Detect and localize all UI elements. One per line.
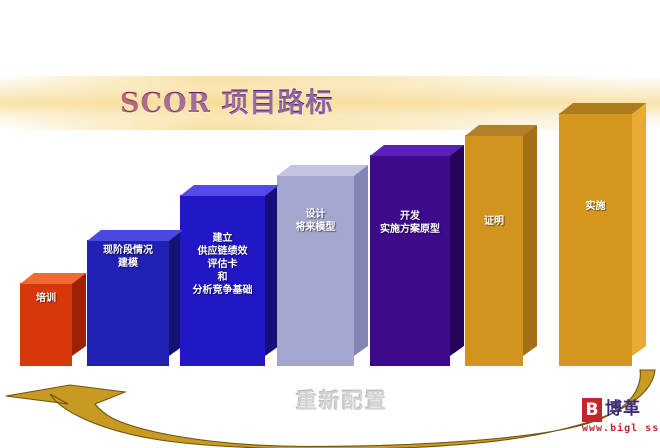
logo-mark-icon: B <box>582 398 602 422</box>
chart-bar-1[interactable]: 培训 <box>20 273 72 366</box>
chart-bar-top-face <box>277 165 368 176</box>
chart-bar-side-face <box>354 165 368 356</box>
chart-bar-2[interactable]: 现阶段情况建模 <box>87 230 169 366</box>
slide-canvas: SCOR 项目路标 培训现阶段情况建模建立供应链绩效评估卡和分析竞争基础设计将来… <box>0 0 660 448</box>
chart-bar-top-face <box>180 185 279 196</box>
reconfigure-label: 重新配置 <box>296 386 426 416</box>
chart-bar-6[interactable]: 证明 <box>465 125 523 366</box>
chart-bar-3[interactable]: 建立供应链绩效评估卡和分析竞争基础 <box>180 185 265 366</box>
chart-bar-side-face <box>632 103 646 356</box>
chart-bar-front-face <box>559 113 632 366</box>
logo-company-name: 博革 <box>605 397 641 421</box>
chart-bar-top-face <box>559 103 646 114</box>
chart-bar-side-face <box>523 125 537 356</box>
chart-bar-4[interactable]: 设计将来模型 <box>277 165 354 366</box>
chart-bar-top-face <box>370 145 464 156</box>
chart-bar-front-face <box>20 283 72 366</box>
logo-website-url: www.bigl ss.com <box>582 423 660 434</box>
page-title: SCOR 项目路标 <box>120 84 420 124</box>
chart-bar-5[interactable]: 开发实施方案原型 <box>370 145 450 366</box>
chart-bar-7[interactable]: 实施 <box>559 103 632 366</box>
chart-bar-front-face <box>370 155 450 366</box>
chart-bar-side-face <box>72 273 86 356</box>
chart-bar-side-face <box>450 145 464 356</box>
brand-logo[interactable]: B 博革 www.bigl ss.com <box>582 396 656 446</box>
chart-bar-top-face <box>87 230 183 241</box>
chart-bar-front-face <box>277 175 354 366</box>
chart-bar-front-face <box>465 135 523 366</box>
chart-bar-front-face <box>180 195 265 366</box>
chart-bar-front-face <box>87 240 169 366</box>
